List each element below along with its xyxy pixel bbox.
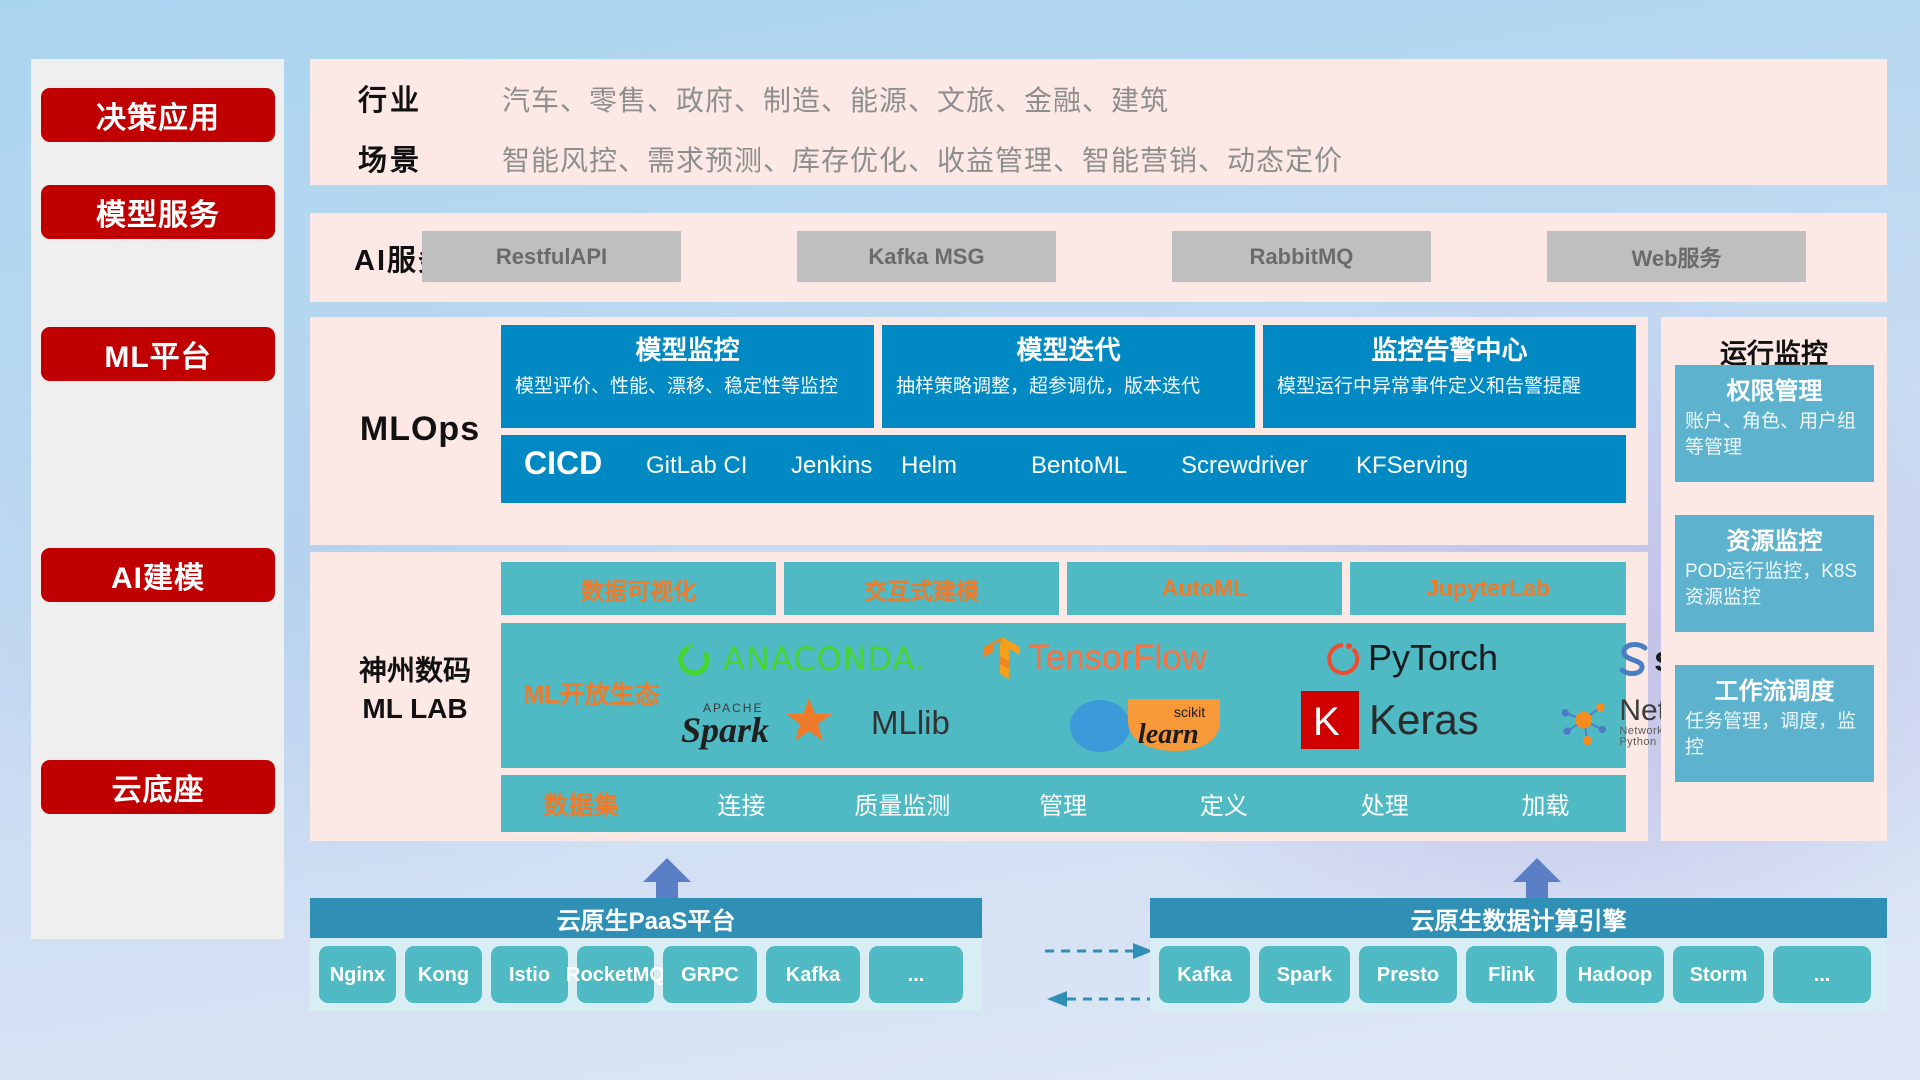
monitor-card-resource[interactable]: 资源监控 POD运行监控，K8S资源监控 <box>1675 515 1874 632</box>
paas-tag-row: Nginx Kong Istio RocketMQ GRPC Kafka ... <box>319 946 963 1003</box>
stage-label: 云底座 <box>112 765 205 809</box>
cicd-item-gitlab-ci[interactable]: GitLab CI <box>646 450 766 482</box>
card-title: 权限管理 <box>1685 371 1864 406</box>
stage-label: ML平台 <box>104 332 211 376</box>
diagram-canvas: 决策应用 模型服务 ML平台 AI建模 云底座 行业 汽车、零售、政府、制造、能… <box>0 0 1920 1080</box>
ai-service-chip-restfulapi[interactable]: RestfulAPI <box>422 231 681 282</box>
ai-service-panel: AI服务 RestfulAPI Kafka MSG RabbitMQ Web服务 <box>310 213 1887 302</box>
ml-lab-title-line1: 神州数码 <box>330 652 500 690</box>
paas-tag-kong[interactable]: Kong <box>405 946 482 1003</box>
ml-lab-panel: 神州数码 ML LAB 数据可视化 交互式建模 AutoML JupyterLa… <box>310 552 1648 841</box>
ml-ecosystem-label: ML开放生态 <box>519 675 664 711</box>
data-engine-stack: 云原生数据计算引擎 Kafka Spark Presto Flink Hadoo… <box>1150 898 1887 1011</box>
stage-rail: 决策应用 模型服务 ML平台 AI建模 云底座 <box>31 59 284 939</box>
monitor-card-workflow[interactable]: 工作流调度 任务管理，调度，监控 <box>1675 665 1874 782</box>
pytorch-wordmark: PyTorch <box>1368 637 1498 679</box>
card-title: 模型监控 <box>515 334 860 367</box>
svg-text:learn: learn <box>1138 719 1199 750</box>
paas-stack: 云原生PaaS平台 Nginx Kong Istio RocketMQ GRPC… <box>310 898 982 1011</box>
pytorch-icon <box>1326 637 1360 679</box>
data-engine-title: 云原生数据计算引擎 <box>1150 898 1887 938</box>
card-title: 监控告警中心 <box>1277 334 1622 367</box>
data-tag-hadoop[interactable]: Hadoop <box>1566 946 1664 1003</box>
cicd-item-screwdriver[interactable]: Screwdriver <box>1181 450 1306 482</box>
data-engine-tag-row: Kafka Spark Presto Flink Hadoop Storm ..… <box>1159 946 1871 1003</box>
svg-text:scikit: scikit <box>1174 704 1205 720</box>
dashed-arrow-left <box>1045 990 1155 1013</box>
chip-label: RabbitMQ <box>1250 244 1354 270</box>
dashed-arrow-right <box>1045 942 1155 965</box>
mlops-card-alert-center[interactable]: 监控告警中心 模型运行中异常事件定义和告警提醒 <box>1263 325 1636 428</box>
paas-tag-kafka[interactable]: Kafka <box>766 946 860 1003</box>
data-tag-more[interactable]: ... <box>1773 946 1871 1003</box>
cicd-title: CICD <box>524 445 602 482</box>
data-tag-kafka[interactable]: Kafka <box>1159 946 1250 1003</box>
paas-tag-istio[interactable]: Istio <box>491 946 568 1003</box>
ml-ecosystem-box: ML开放生态 ANACONDA. TensorFlow <box>501 623 1626 768</box>
svg-text:Spark: Spark <box>681 710 769 750</box>
scikit-learn-icon: scikit learn <box>1066 693 1246 755</box>
industry-value: 汽车、零售、政府、制造、能源、文旅、金融、建筑 <box>502 79 1169 119</box>
cicd-bar: CICD GitLab CI Jenkins Helm BentoML Scre… <box>501 435 1626 503</box>
tensorflow-icon <box>982 635 1022 681</box>
chip-label: RestfulAPI <box>496 244 607 270</box>
cicd-item-helm[interactable]: Helm <box>901 450 991 482</box>
feature-label: JupyterLab <box>1426 575 1550 602</box>
mlops-panel: MLOps 模型监控 模型评价、性能、漂移、稳定性等监控 模型迭代 抽样策略调整… <box>310 317 1648 545</box>
chip-label: Kafka MSG <box>868 244 984 270</box>
dataset-item-define[interactable]: 定义 <box>1143 786 1304 821</box>
pytorch-logo: PyTorch <box>1326 633 1498 683</box>
stage-pill-decision[interactable]: 决策应用 <box>41 88 275 142</box>
paas-tag-grpc[interactable]: GRPC <box>663 946 757 1003</box>
anaconda-logo: ANACONDA. <box>673 635 926 683</box>
industry-label: 行业 <box>358 77 422 119</box>
dataset-item-quality[interactable]: 质量监测 <box>822 786 983 821</box>
anaconda-icon <box>673 638 715 680</box>
chip-label: Web服务 <box>1631 241 1721 273</box>
stage-label: 模型服务 <box>96 190 220 234</box>
dataset-label: 数据集 <box>501 786 661 822</box>
card-desc: 模型运行中异常事件定义和告警提醒 <box>1277 373 1622 401</box>
ai-service-chip-web-service[interactable]: Web服务 <box>1547 231 1806 282</box>
feature-label: 交互式建模 <box>864 572 979 606</box>
stage-pill-cloud-base[interactable]: 云底座 <box>41 760 275 814</box>
tensorflow-wordmark: TensorFlow <box>1028 638 1207 678</box>
card-desc: 模型评价、性能、漂移、稳定性等监控 <box>515 373 860 401</box>
ml-lab-title-line2: ML LAB <box>330 690 500 728</box>
paas-tag-nginx[interactable]: Nginx <box>319 946 396 1003</box>
mlops-card-model-monitoring[interactable]: 模型监控 模型评价、性能、漂移、稳定性等监控 <box>501 325 874 428</box>
spark-icon: APACHE Spark <box>681 694 861 752</box>
dataset-box: 数据集 连接 质量监测 管理 定义 处理 加载 <box>501 775 1626 832</box>
card-title: 资源监控 <box>1685 521 1864 556</box>
dataset-item-load[interactable]: 加载 <box>1465 786 1626 821</box>
scenario-label: 场景 <box>358 137 422 179</box>
dataset-item-connect[interactable]: 连接 <box>661 786 822 821</box>
paas-title: 云原生PaaS平台 <box>310 898 982 938</box>
keras-wordmark: Keras <box>1369 696 1479 744</box>
card-desc: 任务管理，调度，监控 <box>1685 709 1864 760</box>
card-desc: POD运行监控，K8S资源监控 <box>1685 559 1864 610</box>
run-monitor-panel: 运行监控 权限管理 账户、角色、用户组等管理 资源监控 POD运行监控，K8S资… <box>1661 317 1887 841</box>
card-desc: 抽样策略调整，超参调优，版本迭代 <box>896 373 1241 401</box>
feature-label: AutoML <box>1162 575 1248 602</box>
lab-feature-jupyterlab[interactable]: JupyterLab <box>1350 562 1626 615</box>
ai-service-chip-kafka-msg[interactable]: Kafka MSG <box>797 231 1056 282</box>
ai-service-chip-rabbitmq[interactable]: RabbitMQ <box>1172 231 1431 282</box>
paas-tag-more[interactable]: ... <box>869 946 963 1003</box>
feature-label: 数据可视化 <box>581 572 696 606</box>
spark-mllib-logo: APACHE Spark MLlib <box>681 693 950 753</box>
data-tag-presto[interactable]: Presto <box>1359 946 1457 1003</box>
mlops-label: MLOps <box>340 410 500 449</box>
sas-icon <box>1616 639 1652 679</box>
monitor-card-permission[interactable]: 权限管理 账户、角色、用户组等管理 <box>1675 365 1874 482</box>
card-title: 模型迭代 <box>896 334 1241 367</box>
dataset-item-process[interactable]: 处理 <box>1304 786 1465 821</box>
keras-icon: K <box>1301 691 1359 749</box>
scenario-value: 智能风控、需求预测、库存优化、收益管理、智能营销、动态定价 <box>502 139 1343 179</box>
paas-tag-rocketmq[interactable]: RocketMQ <box>577 946 654 1003</box>
card-title: 工作流调度 <box>1685 671 1864 706</box>
lab-feature-automl[interactable]: AutoML <box>1067 562 1342 615</box>
stage-pill-model-service[interactable]: 模型服务 <box>41 185 275 239</box>
cicd-item-kfserving[interactable]: KFServing <box>1356 450 1468 482</box>
data-tag-storm[interactable]: Storm <box>1673 946 1764 1003</box>
dataset-item-manage[interactable]: 管理 <box>983 786 1144 821</box>
stage-pill-ml-platform[interactable]: ML平台 <box>41 327 275 381</box>
lab-feature-interactive-modeling[interactable]: 交互式建模 <box>784 562 1059 615</box>
applications-panel: 行业 汽车、零售、政府、制造、能源、文旅、金融、建筑 场景 智能风控、需求预测、… <box>310 59 1887 185</box>
mllib-wordmark: MLlib <box>871 704 950 742</box>
stage-pill-ai-modeling[interactable]: AI建模 <box>41 548 275 602</box>
stage-label: 决策应用 <box>96 93 220 137</box>
mlops-card-model-iteration[interactable]: 模型迭代 抽样策略调整，超参调优，版本迭代 <box>882 325 1255 428</box>
data-tag-spark[interactable]: Spark <box>1259 946 1350 1003</box>
keras-logo: K Keras <box>1301 689 1479 751</box>
lab-feature-data-visualization[interactable]: 数据可视化 <box>501 562 776 615</box>
svg-text:K: K <box>1313 700 1340 744</box>
ml-lab-title: 神州数码 ML LAB <box>330 652 500 728</box>
networkx-icon <box>1556 696 1613 748</box>
anaconda-wordmark: ANACONDA. <box>723 640 926 678</box>
data-tag-flink[interactable]: Flink <box>1466 946 1557 1003</box>
card-desc: 账户、角色、用户组等管理 <box>1685 409 1864 460</box>
scikit-learn-logo: scikit learn <box>1066 693 1246 755</box>
cicd-item-bentoml[interactable]: BentoML <box>1031 450 1121 482</box>
tensorflow-logo: TensorFlow <box>982 633 1207 683</box>
cicd-item-jenkins[interactable]: Jenkins <box>791 450 871 482</box>
stage-label: AI建模 <box>111 553 205 597</box>
